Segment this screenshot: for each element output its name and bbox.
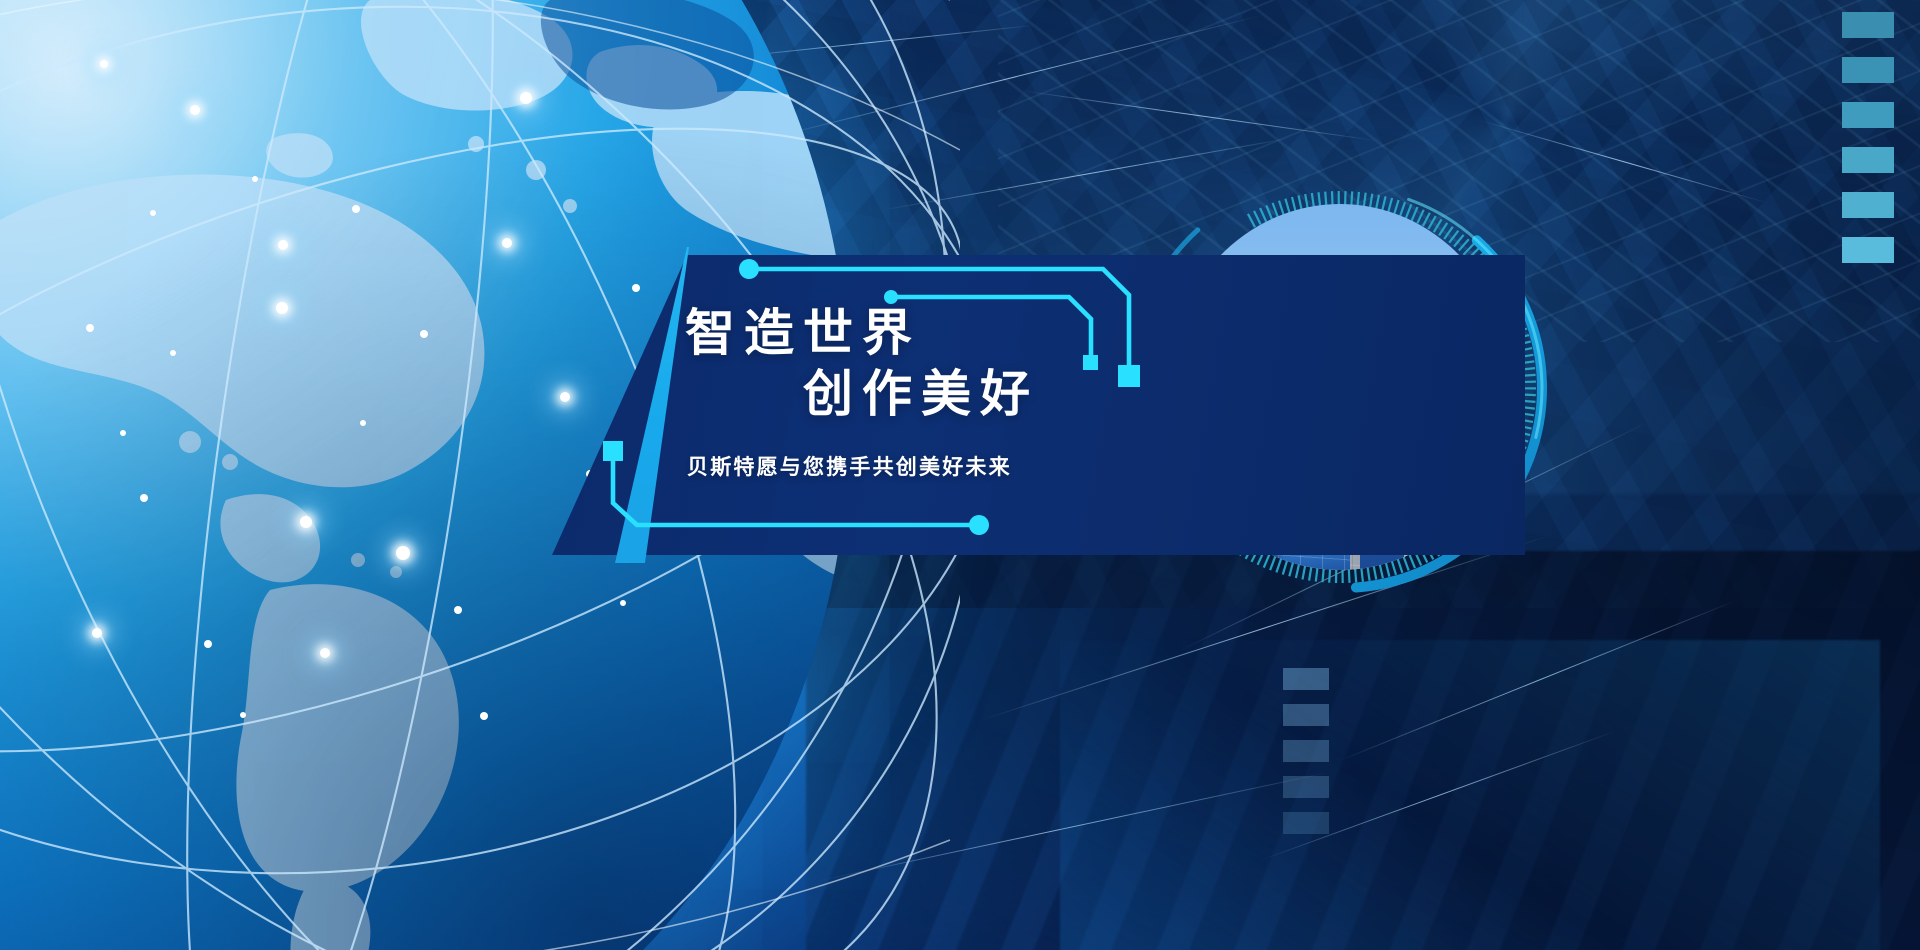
network-node-dot [320, 648, 330, 658]
banner-stage: 华达 贝斯特 BEST 精密机械 热烈欢迎各位领导莅临指导 [0, 0, 1920, 950]
network-node-dot [252, 176, 258, 182]
network-node-dot [278, 240, 288, 250]
lower-bar [1283, 704, 1329, 726]
lower-bar [1283, 668, 1329, 690]
network-node-dot [360, 420, 366, 426]
edge-bar [1842, 192, 1894, 218]
network-node-dot [150, 210, 156, 216]
headline-panel: 智造世界 创作美好 贝斯特愿与您携手共创美好未来 [517, 255, 1525, 555]
network-node-dot [620, 600, 626, 606]
network-node-dot [520, 92, 532, 104]
network-node-dot [120, 430, 126, 436]
lower-bar-group [1283, 668, 1343, 848]
network-node-dot [240, 712, 246, 718]
network-node-dot [420, 330, 428, 338]
headline-line-2: 创作美好 [803, 364, 1385, 425]
edge-bar [1842, 57, 1894, 83]
network-node-dot [276, 302, 288, 314]
network-node-dot [140, 494, 148, 502]
edge-bar-group [1842, 0, 1920, 300]
headline-line-1: 智造世界 [685, 305, 921, 361]
page-title: 智造世界 创作美好 [685, 303, 1385, 425]
network-node-dot [190, 105, 200, 115]
network-node-dot [170, 350, 176, 356]
network-node-dot [300, 516, 312, 528]
network-node-dot [454, 606, 462, 614]
lower-bar [1283, 812, 1329, 834]
lower-bar [1283, 776, 1329, 798]
lower-bar [1283, 740, 1329, 762]
network-node-dot [396, 546, 410, 560]
network-node-dot [502, 238, 512, 248]
network-node-dot [480, 712, 488, 720]
network-node-dot [352, 205, 360, 213]
edge-bar [1842, 12, 1894, 38]
network-node-dot [92, 628, 102, 638]
edge-bar [1842, 147, 1894, 173]
network-node-dot [86, 324, 94, 332]
background-dark-bottom [806, 551, 1920, 950]
edge-bar [1842, 237, 1894, 263]
network-node-dot [204, 640, 212, 648]
edge-bar [1842, 102, 1894, 128]
network-node-dot [100, 60, 108, 68]
page-subtitle: 贝斯特愿与您携手共创美好未来 [687, 451, 1012, 481]
